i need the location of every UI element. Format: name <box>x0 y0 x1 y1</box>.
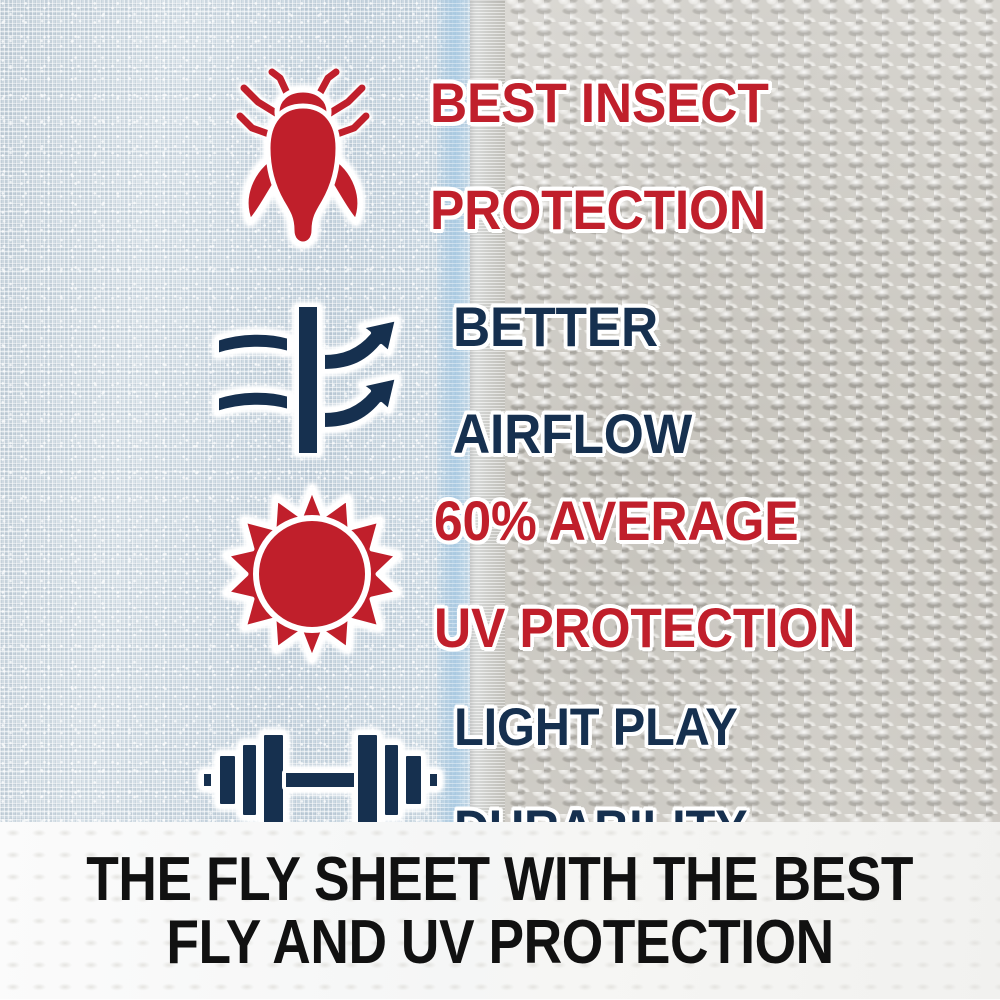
feature-line-1: BETTER <box>453 300 692 354</box>
airflow-icon <box>211 305 411 455</box>
feature-line-2: UV PROTECTION <box>434 601 855 655</box>
infographic-canvas: BEST INSECT PROTECTION <box>0 0 1000 1000</box>
fly-icon <box>228 66 378 246</box>
feature-line-1: 60% AVERAGE <box>434 494 855 548</box>
sun-icon <box>222 484 402 664</box>
feature-line-1: LIGHT PLAY <box>454 703 747 754</box>
feature-line-1: BEST INSECT <box>430 76 769 130</box>
dumbbell-icon <box>196 727 444 831</box>
feature-line-2: PROTECTION <box>430 183 769 237</box>
banner-line-1: THE FLY SHEET WITH THE BEST <box>87 848 914 911</box>
banner-line-2: FLY AND UV PROTECTION <box>166 911 833 974</box>
bottom-banner: THE FLY SHEET WITH THE BEST FLY AND UV P… <box>0 822 1000 1000</box>
